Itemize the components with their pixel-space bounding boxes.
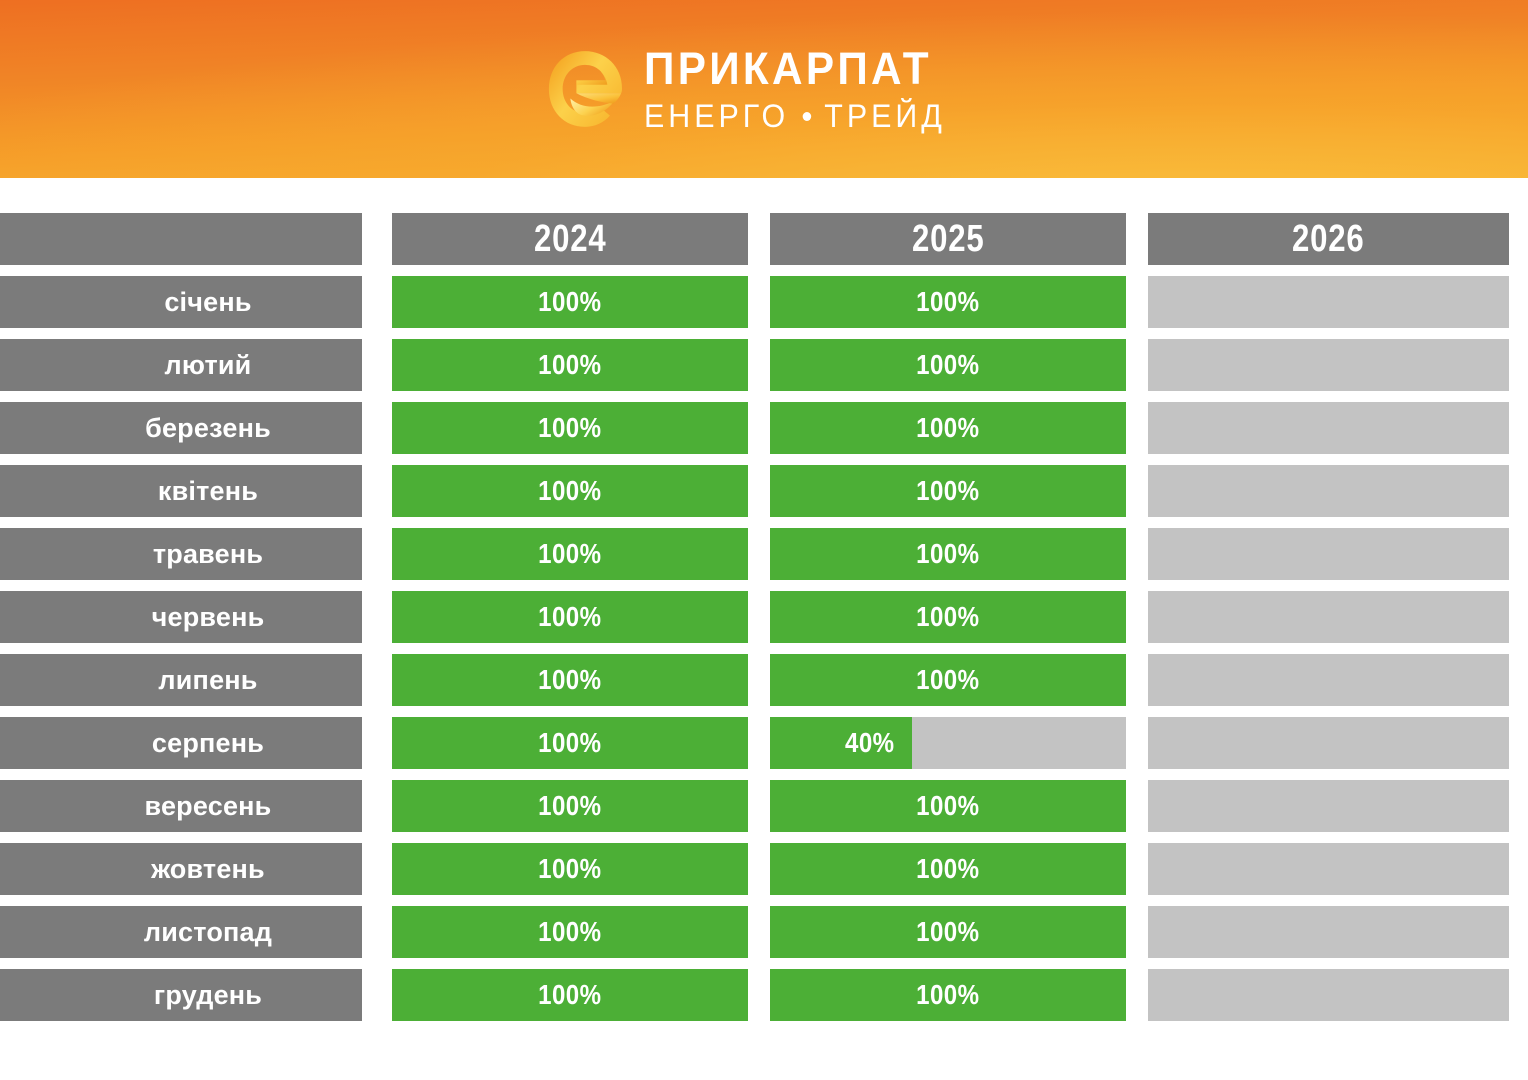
month-label-cell: квітень xyxy=(0,465,362,517)
table-header-row: 2024 2025 2026 xyxy=(0,213,1528,265)
progress-fill: 100% xyxy=(770,402,1126,454)
progress-value-label: 100% xyxy=(916,538,979,570)
progress-value-label: 100% xyxy=(538,790,601,822)
progress-fill: 100% xyxy=(392,528,748,580)
progress-value-label: 100% xyxy=(916,475,979,507)
progress-bar-2025[interactable]: 100% xyxy=(770,591,1126,643)
header-label-2025: 2025 xyxy=(912,218,985,261)
progress-fill: 100% xyxy=(770,654,1126,706)
header-label-2026: 2026 xyxy=(1292,218,1365,261)
month-label: вересень xyxy=(145,791,272,822)
table-body: січень100%100%лютий100%100%березень100%1… xyxy=(0,276,1528,1021)
progress-value-label: 100% xyxy=(538,916,601,948)
progress-fill: 100% xyxy=(770,276,1126,328)
progress-fill: 100% xyxy=(392,402,748,454)
progress-fill: 100% xyxy=(770,969,1126,1021)
progress-fill: 100% xyxy=(770,591,1126,643)
progress-bar-2024[interactable]: 100% xyxy=(392,969,748,1021)
header-cell-year-2026: 2026 xyxy=(1148,213,1509,265)
progress-bar-2026[interactable] xyxy=(1148,906,1509,958)
progress-value-label: 100% xyxy=(916,790,979,822)
progress-bar-2025[interactable]: 100% xyxy=(770,969,1126,1021)
progress-fill: 100% xyxy=(770,843,1126,895)
table-row: лютий100%100% xyxy=(0,339,1528,391)
table-row: квітень100%100% xyxy=(0,465,1528,517)
progress-bar-2025[interactable]: 100% xyxy=(770,276,1126,328)
progress-bar-2024[interactable]: 100% xyxy=(392,528,748,580)
progress-bar-2024[interactable]: 100% xyxy=(392,402,748,454)
month-label: червень xyxy=(152,602,265,633)
month-label-cell: вересень xyxy=(0,780,362,832)
table-row: липень100%100% xyxy=(0,654,1528,706)
progress-bar-2026[interactable] xyxy=(1148,717,1509,769)
progress-fill: 100% xyxy=(392,654,748,706)
progress-value-label: 100% xyxy=(538,853,601,885)
progress-value-label: 100% xyxy=(916,979,979,1011)
month-label-cell: лютий xyxy=(0,339,362,391)
progress-value-label: 100% xyxy=(538,349,601,381)
header-label-2024: 2024 xyxy=(534,218,607,261)
table-row: червень100%100% xyxy=(0,591,1528,643)
progress-value-label: 100% xyxy=(538,475,601,507)
progress-value-label: 100% xyxy=(538,538,601,570)
progress-fill: 100% xyxy=(770,780,1126,832)
brand-sub-right: ТРЕЙД xyxy=(824,100,946,132)
progress-bar-2025[interactable]: 100% xyxy=(770,654,1126,706)
progress-value-label: 100% xyxy=(916,916,979,948)
month-label-cell: грудень xyxy=(0,969,362,1021)
month-label: жовтень xyxy=(151,854,265,885)
progress-fill: 100% xyxy=(770,339,1126,391)
month-label-cell: січень xyxy=(0,276,362,328)
brand-name-secondary: ЕНЕРГО ТРЕЙД xyxy=(644,100,946,132)
progress-bar-2025[interactable]: 100% xyxy=(770,843,1126,895)
progress-value-label: 100% xyxy=(538,412,601,444)
progress-bar-2025[interactable]: 40% xyxy=(770,717,1126,769)
progress-value-label: 40% xyxy=(845,727,894,759)
brand-separator-dot-icon xyxy=(803,112,812,121)
progress-fill: 100% xyxy=(770,465,1126,517)
progress-value-label: 100% xyxy=(916,664,979,696)
brand-name-primary: ПРИКАРПАТ xyxy=(644,46,943,91)
progress-bar-2024[interactable]: 100% xyxy=(392,591,748,643)
month-label: квітень xyxy=(158,476,258,507)
progress-bar-2024[interactable]: 100% xyxy=(392,339,748,391)
progress-fill: 100% xyxy=(392,717,748,769)
table-row: листопад100%100% xyxy=(0,906,1528,958)
progress-bar-2026[interactable] xyxy=(1148,276,1509,328)
table-row: серпень100%40% xyxy=(0,717,1528,769)
month-label-cell: листопад xyxy=(0,906,362,958)
progress-fill: 100% xyxy=(392,780,748,832)
progress-value-label: 100% xyxy=(916,601,979,633)
progress-table: 2024 2025 2026 січень100%100%лютий100%10… xyxy=(0,213,1528,1021)
progress-value-label: 100% xyxy=(916,412,979,444)
month-label: листопад xyxy=(144,917,272,948)
table-row: вересень100%100% xyxy=(0,780,1528,832)
month-label-cell: липень xyxy=(0,654,362,706)
progress-bar-2024[interactable]: 100% xyxy=(392,843,748,895)
brand-wordmark: ПРИКАРПАТ ЕНЕРГО ТРЕЙД xyxy=(644,46,962,132)
table-row: травень100%100% xyxy=(0,528,1528,580)
progress-fill: 40% xyxy=(770,717,912,769)
month-label: березень xyxy=(145,413,271,444)
table-row: жовтень100%100% xyxy=(0,843,1528,895)
progress-bar-2026[interactable] xyxy=(1148,969,1509,1021)
progress-bar-2024[interactable]: 100% xyxy=(392,465,748,517)
progress-bar-2026[interactable] xyxy=(1148,654,1509,706)
progress-bar-2025[interactable]: 100% xyxy=(770,528,1126,580)
progress-value-label: 100% xyxy=(916,286,979,318)
progress-value-label: 100% xyxy=(916,349,979,381)
progress-fill: 100% xyxy=(392,843,748,895)
brand-header-banner: ПРИКАРПАТ ЕНЕРГО ТРЕЙД xyxy=(0,0,1528,178)
month-label: липень xyxy=(158,665,257,696)
progress-bar-2026[interactable] xyxy=(1148,843,1509,895)
progress-bar-2026[interactable] xyxy=(1148,591,1509,643)
month-label: лютий xyxy=(165,350,252,381)
progress-bar-2024[interactable]: 100% xyxy=(392,276,748,328)
table-row: березень100%100% xyxy=(0,402,1528,454)
progress-bar-2024[interactable]: 100% xyxy=(392,654,748,706)
progress-bar-2025[interactable]: 100% xyxy=(770,780,1126,832)
progress-fill: 100% xyxy=(392,906,748,958)
progress-bar-2024[interactable]: 100% xyxy=(392,906,748,958)
header-cell-month-column xyxy=(0,213,362,265)
month-label-cell: жовтень xyxy=(0,843,362,895)
month-label: серпень xyxy=(152,728,264,759)
progress-bar-2024[interactable]: 100% xyxy=(392,780,748,832)
progress-bar-2025[interactable]: 100% xyxy=(770,906,1126,958)
progress-bar-2026[interactable] xyxy=(1148,780,1509,832)
progress-fill: 100% xyxy=(770,528,1126,580)
progress-fill: 100% xyxy=(392,969,748,1021)
progress-fill: 100% xyxy=(392,591,748,643)
header-cell-year-2025: 2025 xyxy=(770,213,1126,265)
progress-fill: 100% xyxy=(392,276,748,328)
progress-fill: 100% xyxy=(392,339,748,391)
progress-bar-2026[interactable] xyxy=(1148,528,1509,580)
header-cell-year-2024: 2024 xyxy=(392,213,748,265)
brand-sub-left: ЕНЕРГО xyxy=(644,100,789,132)
progress-fill: 100% xyxy=(392,465,748,517)
progress-bar-2026[interactable] xyxy=(1148,465,1509,517)
progress-value-label: 100% xyxy=(538,601,601,633)
progress-bar-2025[interactable]: 100% xyxy=(770,465,1126,517)
progress-value-label: 100% xyxy=(916,853,979,885)
month-label-cell: березень xyxy=(0,402,362,454)
table-row: грудень100%100% xyxy=(0,969,1528,1021)
month-label-cell: травень xyxy=(0,528,362,580)
progress-value-label: 100% xyxy=(538,664,601,696)
progress-bar-2026[interactable] xyxy=(1148,339,1509,391)
progress-value-label: 100% xyxy=(538,979,601,1011)
progress-fill: 100% xyxy=(770,906,1126,958)
progress-bar-2024[interactable]: 100% xyxy=(392,717,748,769)
brand-lockup: ПРИКАРПАТ ЕНЕРГО ТРЕЙД xyxy=(542,46,962,132)
month-label-cell: серпень xyxy=(0,717,362,769)
progress-value-label: 100% xyxy=(538,727,601,759)
month-label: травень xyxy=(153,539,263,570)
energy-e-logo-icon xyxy=(542,46,628,132)
progress-bar-2025[interactable]: 100% xyxy=(770,402,1126,454)
table-row: січень100%100% xyxy=(0,276,1528,328)
progress-value-label: 100% xyxy=(538,286,601,318)
month-label-cell: червень xyxy=(0,591,362,643)
progress-bar-2026[interactable] xyxy=(1148,402,1509,454)
month-label: грудень xyxy=(154,980,262,1011)
page-root: ПРИКАРПАТ ЕНЕРГО ТРЕЙД 2024 2025 20 xyxy=(0,0,1528,1080)
month-label: січень xyxy=(164,287,251,318)
progress-bar-2025[interactable]: 100% xyxy=(770,339,1126,391)
